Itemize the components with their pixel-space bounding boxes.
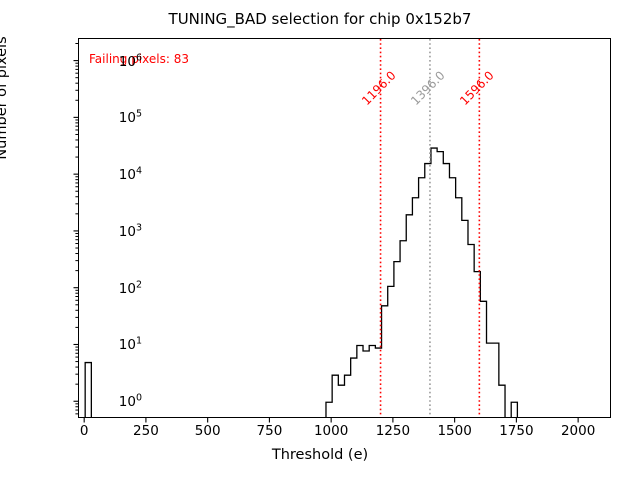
y-tick-mantissa-5: 10 bbox=[119, 110, 136, 126]
y-tick-mantissa-0: 10 bbox=[119, 394, 136, 410]
y-tick-mantissa-2: 10 bbox=[119, 280, 136, 296]
y-tick-labels: 100101102103104105106 bbox=[0, 0, 640, 480]
y-tick-mantissa-1: 10 bbox=[119, 337, 136, 353]
y-tick-exponent-5: 5 bbox=[136, 109, 142, 120]
y-tick-label-4: 104 bbox=[119, 165, 142, 183]
y-tick-exponent-6: 6 bbox=[136, 52, 142, 63]
y-tick-mantissa-3: 10 bbox=[119, 224, 136, 240]
y-tick-exponent-3: 3 bbox=[136, 222, 142, 233]
y-tick-label-6: 106 bbox=[119, 52, 142, 70]
y-tick-label-1: 101 bbox=[119, 336, 142, 354]
y-tick-exponent-1: 1 bbox=[136, 336, 142, 347]
y-tick-mantissa-6: 10 bbox=[119, 53, 136, 69]
y-tick-exponent-4: 4 bbox=[136, 165, 142, 176]
y-axis-label: Number of pixels bbox=[0, 0, 10, 228]
y-tick-label-2: 102 bbox=[119, 279, 142, 297]
x-axis-label: Threshold (e) bbox=[0, 447, 640, 463]
chart-root: TUNING_BAD selection for chip 0x152b7 Fa… bbox=[0, 0, 640, 480]
y-tick-label-3: 103 bbox=[119, 222, 142, 240]
y-tick-mantissa-4: 10 bbox=[119, 167, 136, 183]
y-tick-label-0: 100 bbox=[119, 393, 142, 411]
y-tick-exponent-0: 0 bbox=[136, 393, 142, 404]
y-tick-label-5: 105 bbox=[119, 109, 142, 127]
y-tick-exponent-2: 2 bbox=[136, 279, 142, 290]
